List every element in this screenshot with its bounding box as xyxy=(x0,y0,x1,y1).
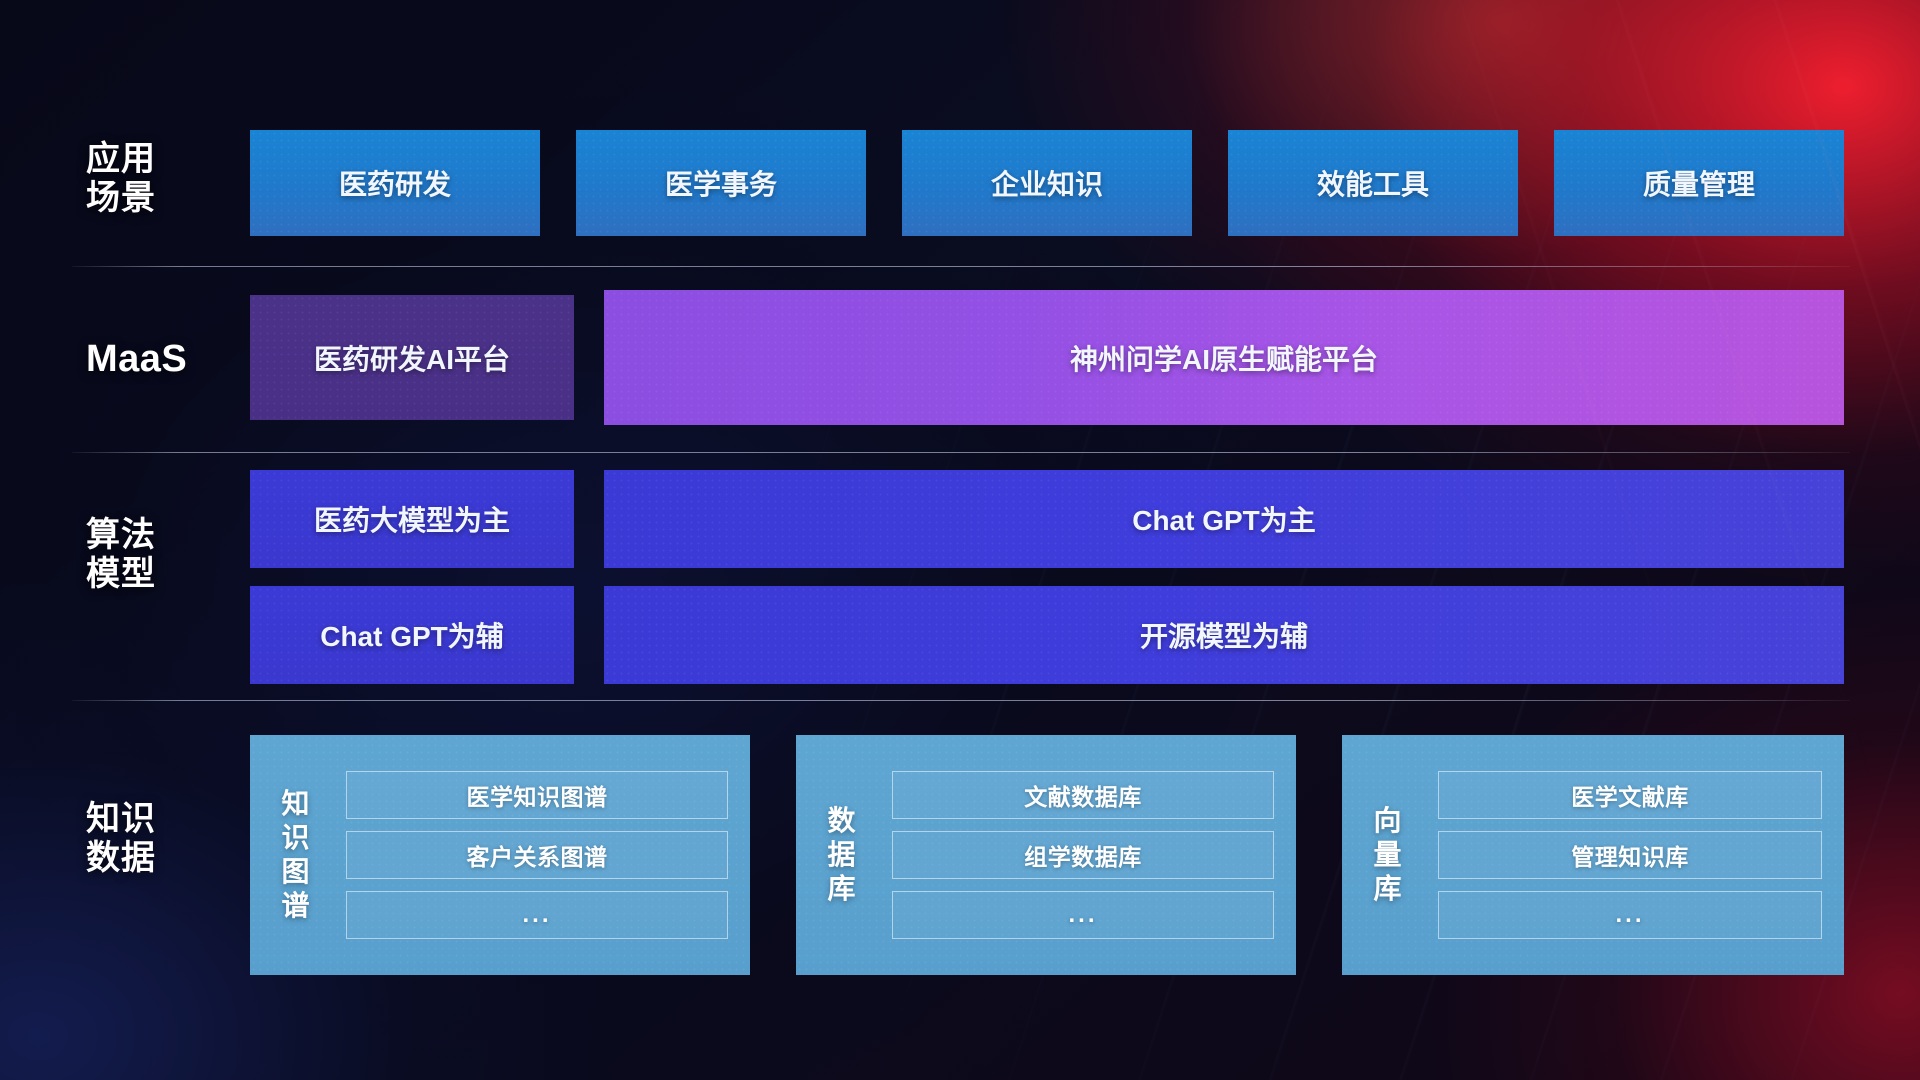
app-card-label: 效能工具 xyxy=(1317,163,1429,203)
knowledge-item-medical-literature[interactable]: 医学文献库 xyxy=(1438,771,1822,819)
knowledge-panel-items: 医学知识图谱 客户关系图谱 ... xyxy=(342,735,750,975)
knowledge-item-label: 文献数据库 xyxy=(1024,778,1142,812)
row-label-maas-text: MaaS xyxy=(86,337,236,381)
row-label-algorithm: 算法 模型 xyxy=(86,516,236,595)
row-label-application: 应用 场景 xyxy=(86,140,236,219)
row-label-knowledge: 知识 数据 xyxy=(86,800,236,879)
knowledge-item-more[interactable]: ... xyxy=(346,891,728,939)
app-card-enterprise-knowledge[interactable]: 企业知识 xyxy=(902,130,1192,236)
knowledge-item-label: 客户关系图谱 xyxy=(467,838,608,872)
knowledge-panel-vertical-label: 知 识 图 谱 xyxy=(250,735,342,975)
vlabel-char: 图 xyxy=(281,855,310,889)
algo-card-label: Chat GPT为辅 xyxy=(320,615,504,655)
knowledge-panel-database[interactable]: 数 据 库 文献数据库 组学数据库 ... xyxy=(796,735,1296,975)
divider-algorithm-knowledge xyxy=(72,700,1850,701)
knowledge-item-label: 组学数据库 xyxy=(1024,838,1142,872)
row-label-maas: MaaS xyxy=(86,337,236,381)
knowledge-item-more[interactable]: ... xyxy=(1438,891,1822,939)
app-card-drug-rd[interactable]: 医药研发 xyxy=(250,130,540,236)
knowledge-item-label: 医学文献库 xyxy=(1571,778,1689,812)
knowledge-item-literature-db[interactable]: 文献数据库 xyxy=(892,771,1274,819)
vlabel-char: 知 xyxy=(281,787,310,821)
knowledge-panel-knowledge-graph[interactable]: 知 识 图 谱 医学知识图谱 客户关系图谱 ... xyxy=(250,735,750,975)
diagram-canvas: 应用 场景 医药研发 医学事务 企业知识 效能工具 质量管理 MaaS 医药研发… xyxy=(0,0,1920,1080)
app-card-quality-management[interactable]: 质量管理 xyxy=(1554,130,1844,236)
app-card-efficiency-tools[interactable]: 效能工具 xyxy=(1228,130,1518,236)
row-label-algorithm-line1: 算法 xyxy=(86,516,236,555)
app-card-medical-affairs[interactable]: 医学事务 xyxy=(576,130,866,236)
maas-card-drug-ai-platform[interactable]: 医药研发AI平台 xyxy=(250,295,574,420)
knowledge-item-label: 医学知识图谱 xyxy=(467,778,608,812)
maas-card-shenzhou-platform[interactable]: 神州问学AI原生赋能平台 xyxy=(604,290,1844,425)
row-label-knowledge-line2: 数据 xyxy=(86,839,236,878)
algo-card-label: 医药大模型为主 xyxy=(314,499,510,539)
vlabel-char: 据 xyxy=(827,838,856,872)
app-card-label: 企业知识 xyxy=(991,163,1103,203)
knowledge-panel-items: 文献数据库 组学数据库 ... xyxy=(888,735,1296,975)
row-label-algorithm-line2: 模型 xyxy=(86,555,236,594)
vlabel-char: 谱 xyxy=(281,889,310,923)
knowledge-item-customer-kg[interactable]: 客户关系图谱 xyxy=(346,831,728,879)
knowledge-panel-items: 医学文献库 管理知识库 ... xyxy=(1434,735,1844,975)
row-label-application-line2: 场景 xyxy=(86,179,236,218)
vlabel-char: 向 xyxy=(1373,804,1402,838)
knowledge-item-management-knowledge[interactable]: 管理知识库 xyxy=(1438,831,1822,879)
knowledge-item-more[interactable]: ... xyxy=(892,891,1274,939)
vlabel-char: 库 xyxy=(827,872,856,906)
app-card-label: 质量管理 xyxy=(1643,163,1755,203)
vlabel-char: 量 xyxy=(1373,838,1402,872)
algo-card-opensource-secondary[interactable]: 开源模型为辅 xyxy=(604,586,1844,684)
knowledge-item-label: ... xyxy=(1068,901,1097,929)
knowledge-panel-vector-store[interactable]: 向 量 库 医学文献库 管理知识库 ... xyxy=(1342,735,1844,975)
algo-card-drug-llm-primary[interactable]: 医药大模型为主 xyxy=(250,470,574,568)
vlabel-char: 识 xyxy=(281,821,310,855)
algo-card-chatgpt-secondary[interactable]: Chat GPT为辅 xyxy=(250,586,574,684)
vlabel-char: 库 xyxy=(1373,872,1402,906)
maas-card-label: 神州问学AI原生赋能平台 xyxy=(1070,338,1378,378)
divider-application-maas xyxy=(72,266,1850,267)
knowledge-item-label: 管理知识库 xyxy=(1571,838,1689,872)
row-label-application-line1: 应用 xyxy=(86,140,236,179)
app-card-label: 医学事务 xyxy=(665,163,777,203)
vlabel-char: 数 xyxy=(827,804,856,838)
knowledge-item-label: ... xyxy=(522,901,551,929)
divider-maas-algorithm xyxy=(72,452,1850,453)
knowledge-panel-vertical-label: 数 据 库 xyxy=(796,735,888,975)
maas-card-label: 医药研发AI平台 xyxy=(314,338,510,378)
knowledge-item-medical-kg[interactable]: 医学知识图谱 xyxy=(346,771,728,819)
algo-card-label: Chat GPT为主 xyxy=(1132,499,1316,539)
algo-card-label: 开源模型为辅 xyxy=(1140,615,1308,655)
knowledge-item-omics-db[interactable]: 组学数据库 xyxy=(892,831,1274,879)
algo-card-chatgpt-primary[interactable]: Chat GPT为主 xyxy=(604,470,1844,568)
row-label-knowledge-line1: 知识 xyxy=(86,800,236,839)
app-card-label: 医药研发 xyxy=(339,163,451,203)
knowledge-item-label: ... xyxy=(1615,901,1644,929)
knowledge-panel-vertical-label: 向 量 库 xyxy=(1342,735,1434,975)
